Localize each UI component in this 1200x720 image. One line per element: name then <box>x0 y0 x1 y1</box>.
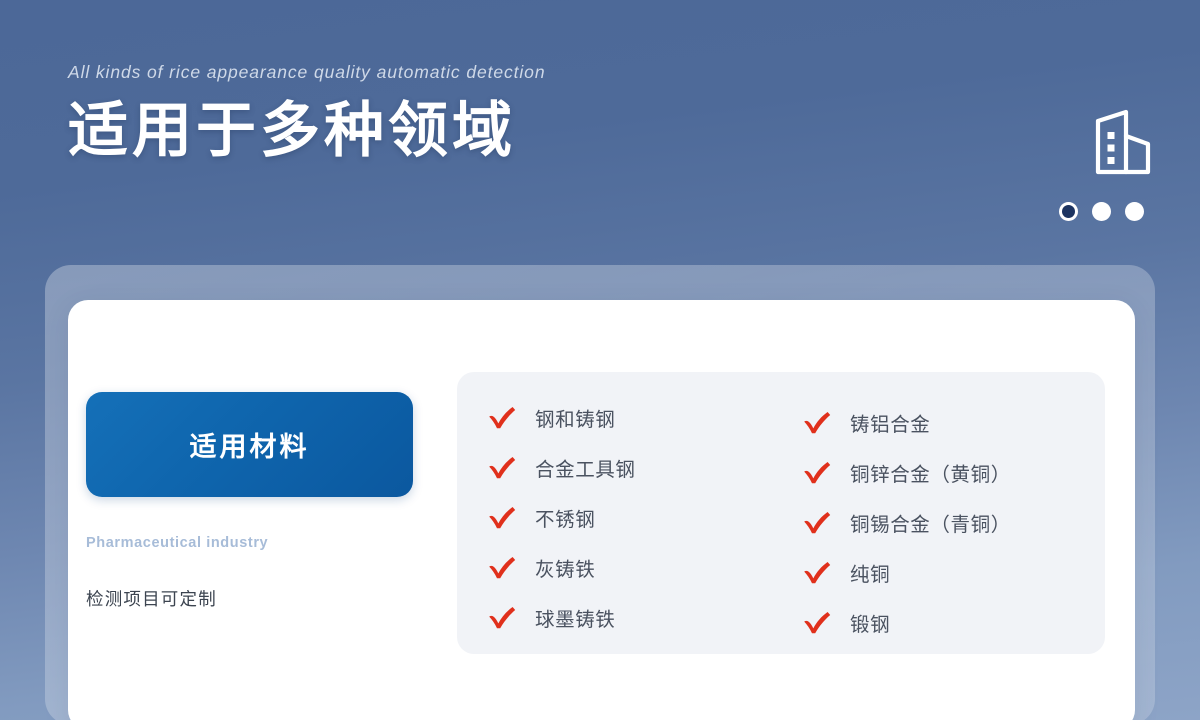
check-icon <box>802 459 832 485</box>
material-label: 纯铜 <box>850 558 890 587</box>
list-item: 纯铜 <box>802 547 1011 597</box>
pager-dot-2[interactable] <box>1092 202 1111 221</box>
pager-dot-core <box>1062 205 1075 218</box>
check-icon <box>487 504 517 530</box>
check-icon <box>487 604 517 630</box>
pager-dot-1[interactable] <box>1059 202 1078 221</box>
material-label: 不锈钢 <box>535 503 595 532</box>
page-title: 适用于多种领域 <box>68 99 1068 164</box>
list-item: 合金工具钢 <box>487 442 636 492</box>
applicable-materials-button[interactable]: 适用材料 <box>86 392 413 497</box>
material-label: 铸铝合金 <box>850 408 930 437</box>
material-label: 铜锌合金（黄铜） <box>850 458 1011 487</box>
check-icon <box>802 409 832 435</box>
pager-dot-core <box>1095 205 1108 218</box>
material-label: 球墨铸铁 <box>535 603 615 632</box>
industry-subtitle: Pharmaceutical industry <box>86 535 416 551</box>
list-item: 钢和铸钢 <box>487 392 636 442</box>
material-label: 铜锡合金（青铜） <box>850 508 1011 537</box>
slide-canvas: All kinds of rice appearance quality aut… <box>0 0 1200 720</box>
check-icon <box>487 404 517 430</box>
check-icon <box>802 559 832 585</box>
material-label: 合金工具钢 <box>535 453 636 482</box>
customizable-note: 检测项目可定制 <box>86 586 416 611</box>
pager-dot-3[interactable] <box>1125 202 1144 221</box>
check-icon <box>802 609 832 635</box>
header-eyebrow: All kinds of rice appearance quality aut… <box>68 62 1068 83</box>
material-label: 钢和铸钢 <box>535 403 615 432</box>
list-item: 铜锌合金（黄铜） <box>802 447 1011 497</box>
header: All kinds of rice appearance quality aut… <box>68 62 1068 164</box>
materials-list-box: 钢和铸钢 合金工具钢 不锈钢 <box>457 372 1105 654</box>
pager-dot-core <box>1128 205 1141 218</box>
list-item: 球墨铸铁 <box>487 592 636 642</box>
material-label: 灰铸铁 <box>535 553 595 582</box>
materials-column-left: 钢和铸钢 合金工具钢 不锈钢 <box>487 392 636 642</box>
list-item: 铸铝合金 <box>802 397 1011 447</box>
carousel-pagination[interactable] <box>1059 202 1144 221</box>
left-column: 适用材料 Pharmaceutical industry 检测项目可定制 <box>86 392 416 611</box>
list-item: 灰铸铁 <box>487 542 636 592</box>
check-icon <box>487 554 517 580</box>
materials-column-right: 铸铝合金 铜锌合金（黄铜） 铜锡合金（青铜） <box>802 397 1011 647</box>
check-icon <box>802 509 832 535</box>
list-item: 锻钢 <box>802 597 1011 647</box>
list-item: 铜锡合金（青铜） <box>802 497 1011 547</box>
building-icon <box>1088 108 1158 178</box>
check-icon <box>487 454 517 480</box>
material-label: 锻钢 <box>850 608 890 637</box>
list-item: 不锈钢 <box>487 492 636 542</box>
